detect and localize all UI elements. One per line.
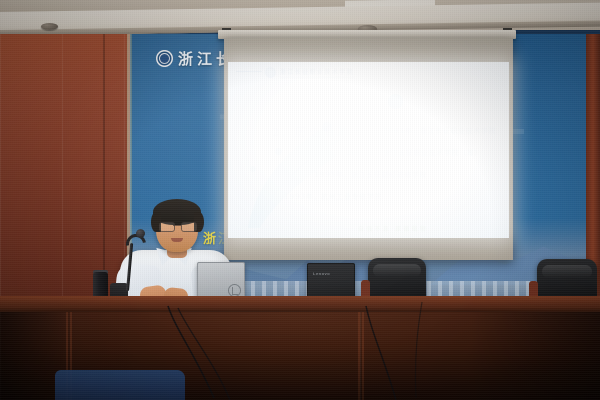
slide-node-dot [388,94,403,109]
emblem-core [160,54,169,63]
university-emblem-icon [156,50,173,67]
slide-bullet: 1995年，浙江长征财经进修学院 [314,170,427,180]
slide-bullet: 2003年，浙江长征职业技术学院（筹） [346,148,482,158]
foreground-chair [55,370,185,400]
conference-room-photo: 浙江长 浙江长征职业技术学院 德 浙江长征职业技术学院 [0,0,600,400]
chair-highlight [373,264,422,278]
slide-title: 2. 历史沿革 [272,124,351,140]
slide-node-dot [275,148,282,155]
glasses-bridge [173,225,181,226]
slide-header-rule [236,71,262,72]
smoke-detector-icon [41,23,58,30]
projection-screen: 浙江长征职业技术学院 2. 历史沿革 2004年，浙江长征职业技术学院 200 [224,38,513,260]
slide-logo-text: 浙江长征职业技术学院 [280,67,354,78]
slide-footer-text: 自强不息 厚德载物 [358,224,428,233]
wood-panel-seam [103,34,105,309]
slide-logo-icon [265,67,276,78]
slide-bullet: 2004年，浙江长征职业技术学院 [383,126,496,136]
projected-slide: 浙江长征职业技术学院 2. 历史沿革 2004年，浙江长征职业技术学院 200 [228,62,509,238]
eyeglasses-icon [158,222,197,230]
chair-highlight [542,265,592,279]
slide-node-dot [250,166,256,172]
glasses-lens [181,222,197,232]
slide-swoosh-graphic [246,100,456,230]
lenovo-logo-text: Lenovo [313,271,330,276]
wood-wall-panel [0,34,130,309]
glasses-lens [159,222,175,232]
slide-bullet: 1993年，杭州工业专修学院 [284,192,382,202]
microphone-head-icon [136,229,145,238]
